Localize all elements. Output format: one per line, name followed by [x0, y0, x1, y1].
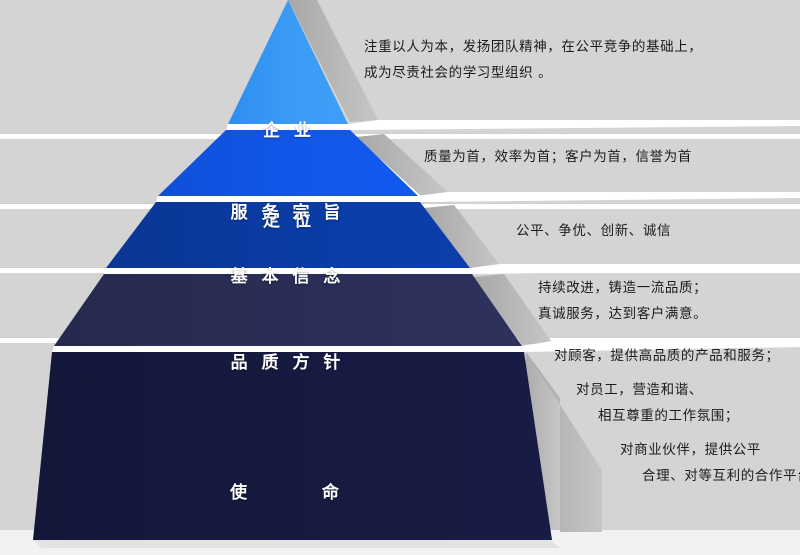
pyramid-graphic [0, 0, 800, 555]
pyramid-shadow [33, 540, 560, 548]
pyramid-tier-5-face[interactable] [33, 352, 552, 540]
pyramid-tier-4-face[interactable] [54, 274, 522, 346]
pyramid-diagram: 企 业 定 位 服 务 宗 旨 基 本 信 念 品 质 方 针 使 命 注重以人… [0, 0, 800, 555]
pyramid-tier-3-face[interactable] [106, 202, 470, 268]
